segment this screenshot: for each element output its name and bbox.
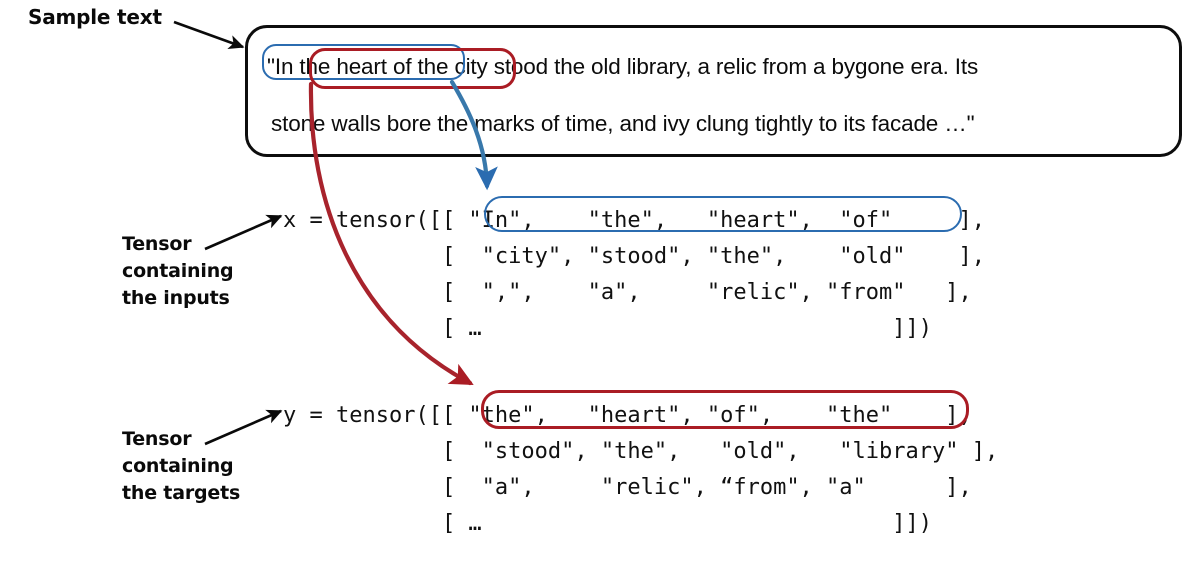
arrow-sample-text xyxy=(174,22,243,47)
targets-tensor-label: Tensor containing the targets xyxy=(122,426,240,507)
sample-text-label: Sample text xyxy=(28,4,162,31)
inputs-tensor-label: Tensor containing the inputs xyxy=(122,231,233,312)
diagram-canvas: Sample text Tensor containing the inputs… xyxy=(0,0,1194,564)
highlight-box-x-row-0 xyxy=(484,196,962,232)
sample-text-line-2: stone walls bore the marks of time, and … xyxy=(271,111,974,137)
highlight-box-y-row-0 xyxy=(481,390,969,429)
highlight-box-target-span xyxy=(309,48,516,89)
